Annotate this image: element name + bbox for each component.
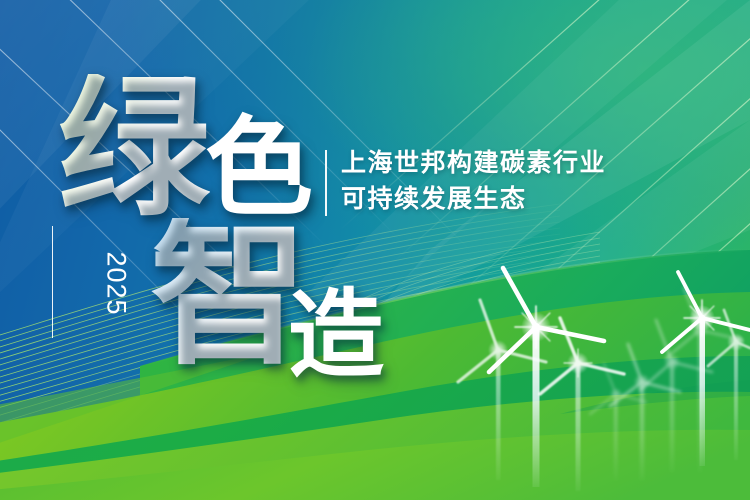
banner-poster: 绿 色 智 造 2025 上海世邦构建碳素行业 可持续发展生态 [0, 0, 750, 500]
subtitle-line-2: 可持续发展生态 [341, 182, 606, 218]
year-badge: 2025 [86, 224, 142, 336]
subtitle-line-1: 上海世邦构建碳素行业 [341, 146, 606, 182]
year-divider-rule [52, 226, 53, 338]
year-label: 2025 [101, 228, 132, 340]
subtitle-divider-rule [325, 150, 327, 216]
subtitle-block: 上海世邦构建碳素行业 可持续发展生态 [341, 146, 606, 217]
